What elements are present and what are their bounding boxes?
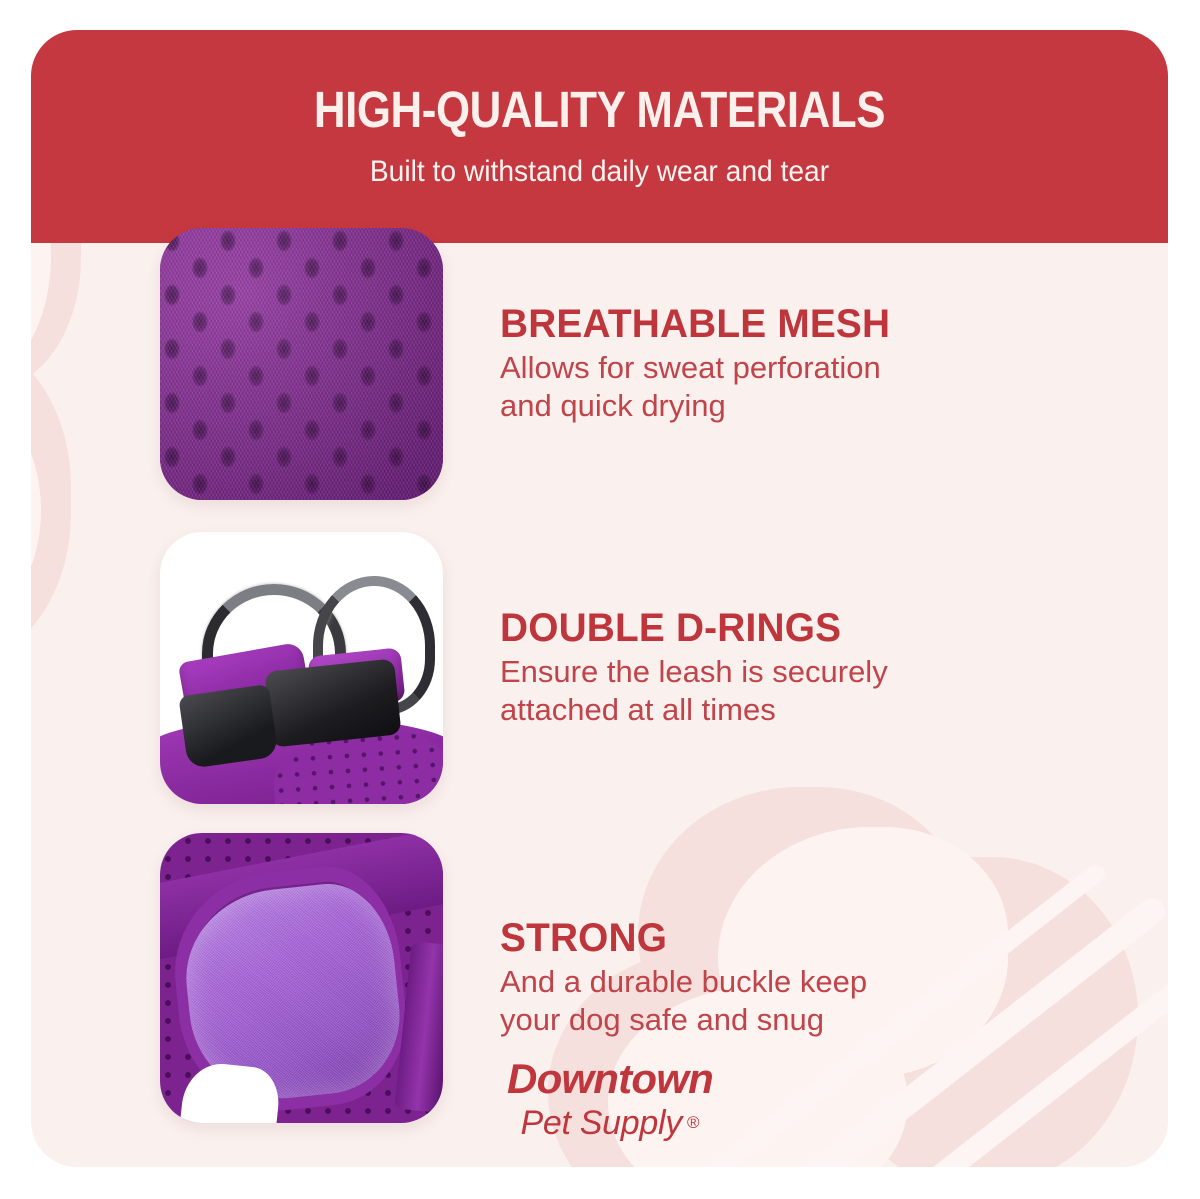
- feature-body-line2: your dog safe and snug: [500, 1001, 1020, 1039]
- feature-title: BREATHABLE MESH: [500, 303, 1024, 345]
- feature-body-line2: attached at all times: [500, 691, 1020, 729]
- brand-logo: Downtown Pet Supply®: [470, 1058, 750, 1140]
- header-banner: HIGH-QUALITY MATERIALS Built to withstan…: [31, 30, 1168, 243]
- logo-line-downtown: Downtown: [470, 1058, 750, 1100]
- padded-harness-illustration: [160, 833, 443, 1123]
- product-feature-infographic: HIGH-QUALITY MATERIALS Built to withstan…: [0, 0, 1200, 1199]
- mesh-texture-icon: [160, 228, 443, 500]
- feature-body-line2: and quick drying: [500, 387, 1020, 425]
- double-d-rings-photo: [160, 532, 443, 804]
- strong-buckle-photo: [160, 833, 443, 1123]
- page-title: HIGH-QUALITY MATERIALS: [111, 84, 1089, 135]
- feature-text-double-d-rings: DOUBLE D-RINGS Ensure the leash is secur…: [500, 607, 1040, 729]
- feature-body-line1: Ensure the leash is securely: [500, 653, 1020, 691]
- feature-text-strong: STRONG And a durable buckle keep your do…: [500, 917, 1040, 1039]
- feature-text-breathable-mesh: BREATHABLE MESH Allows for sweat perfora…: [500, 303, 1040, 425]
- feature-title: STRONG: [500, 917, 1024, 959]
- feature-title: DOUBLE D-RINGS: [500, 607, 1024, 649]
- feature-body-line1: And a durable buckle keep: [500, 963, 1020, 1001]
- d-rings-illustration: [160, 532, 443, 804]
- feature-row-breathable-mesh: BREATHABLE MESH Allows for sweat perfora…: [160, 228, 1040, 500]
- feature-row-double-d-rings: DOUBLE D-RINGS Ensure the leash is secur…: [160, 532, 1040, 804]
- breathable-mesh-photo: [160, 228, 443, 500]
- logo-line-pet-supply: Pet Supply: [521, 1106, 682, 1140]
- feature-body-line1: Allows for sweat perforation: [500, 349, 1020, 387]
- page-subtitle: Built to withstand daily wear and tear: [65, 157, 1134, 187]
- registered-trademark-icon: ®: [687, 1113, 700, 1132]
- buckle-clip-shape: [178, 684, 278, 769]
- buckle-shape: [264, 659, 401, 748]
